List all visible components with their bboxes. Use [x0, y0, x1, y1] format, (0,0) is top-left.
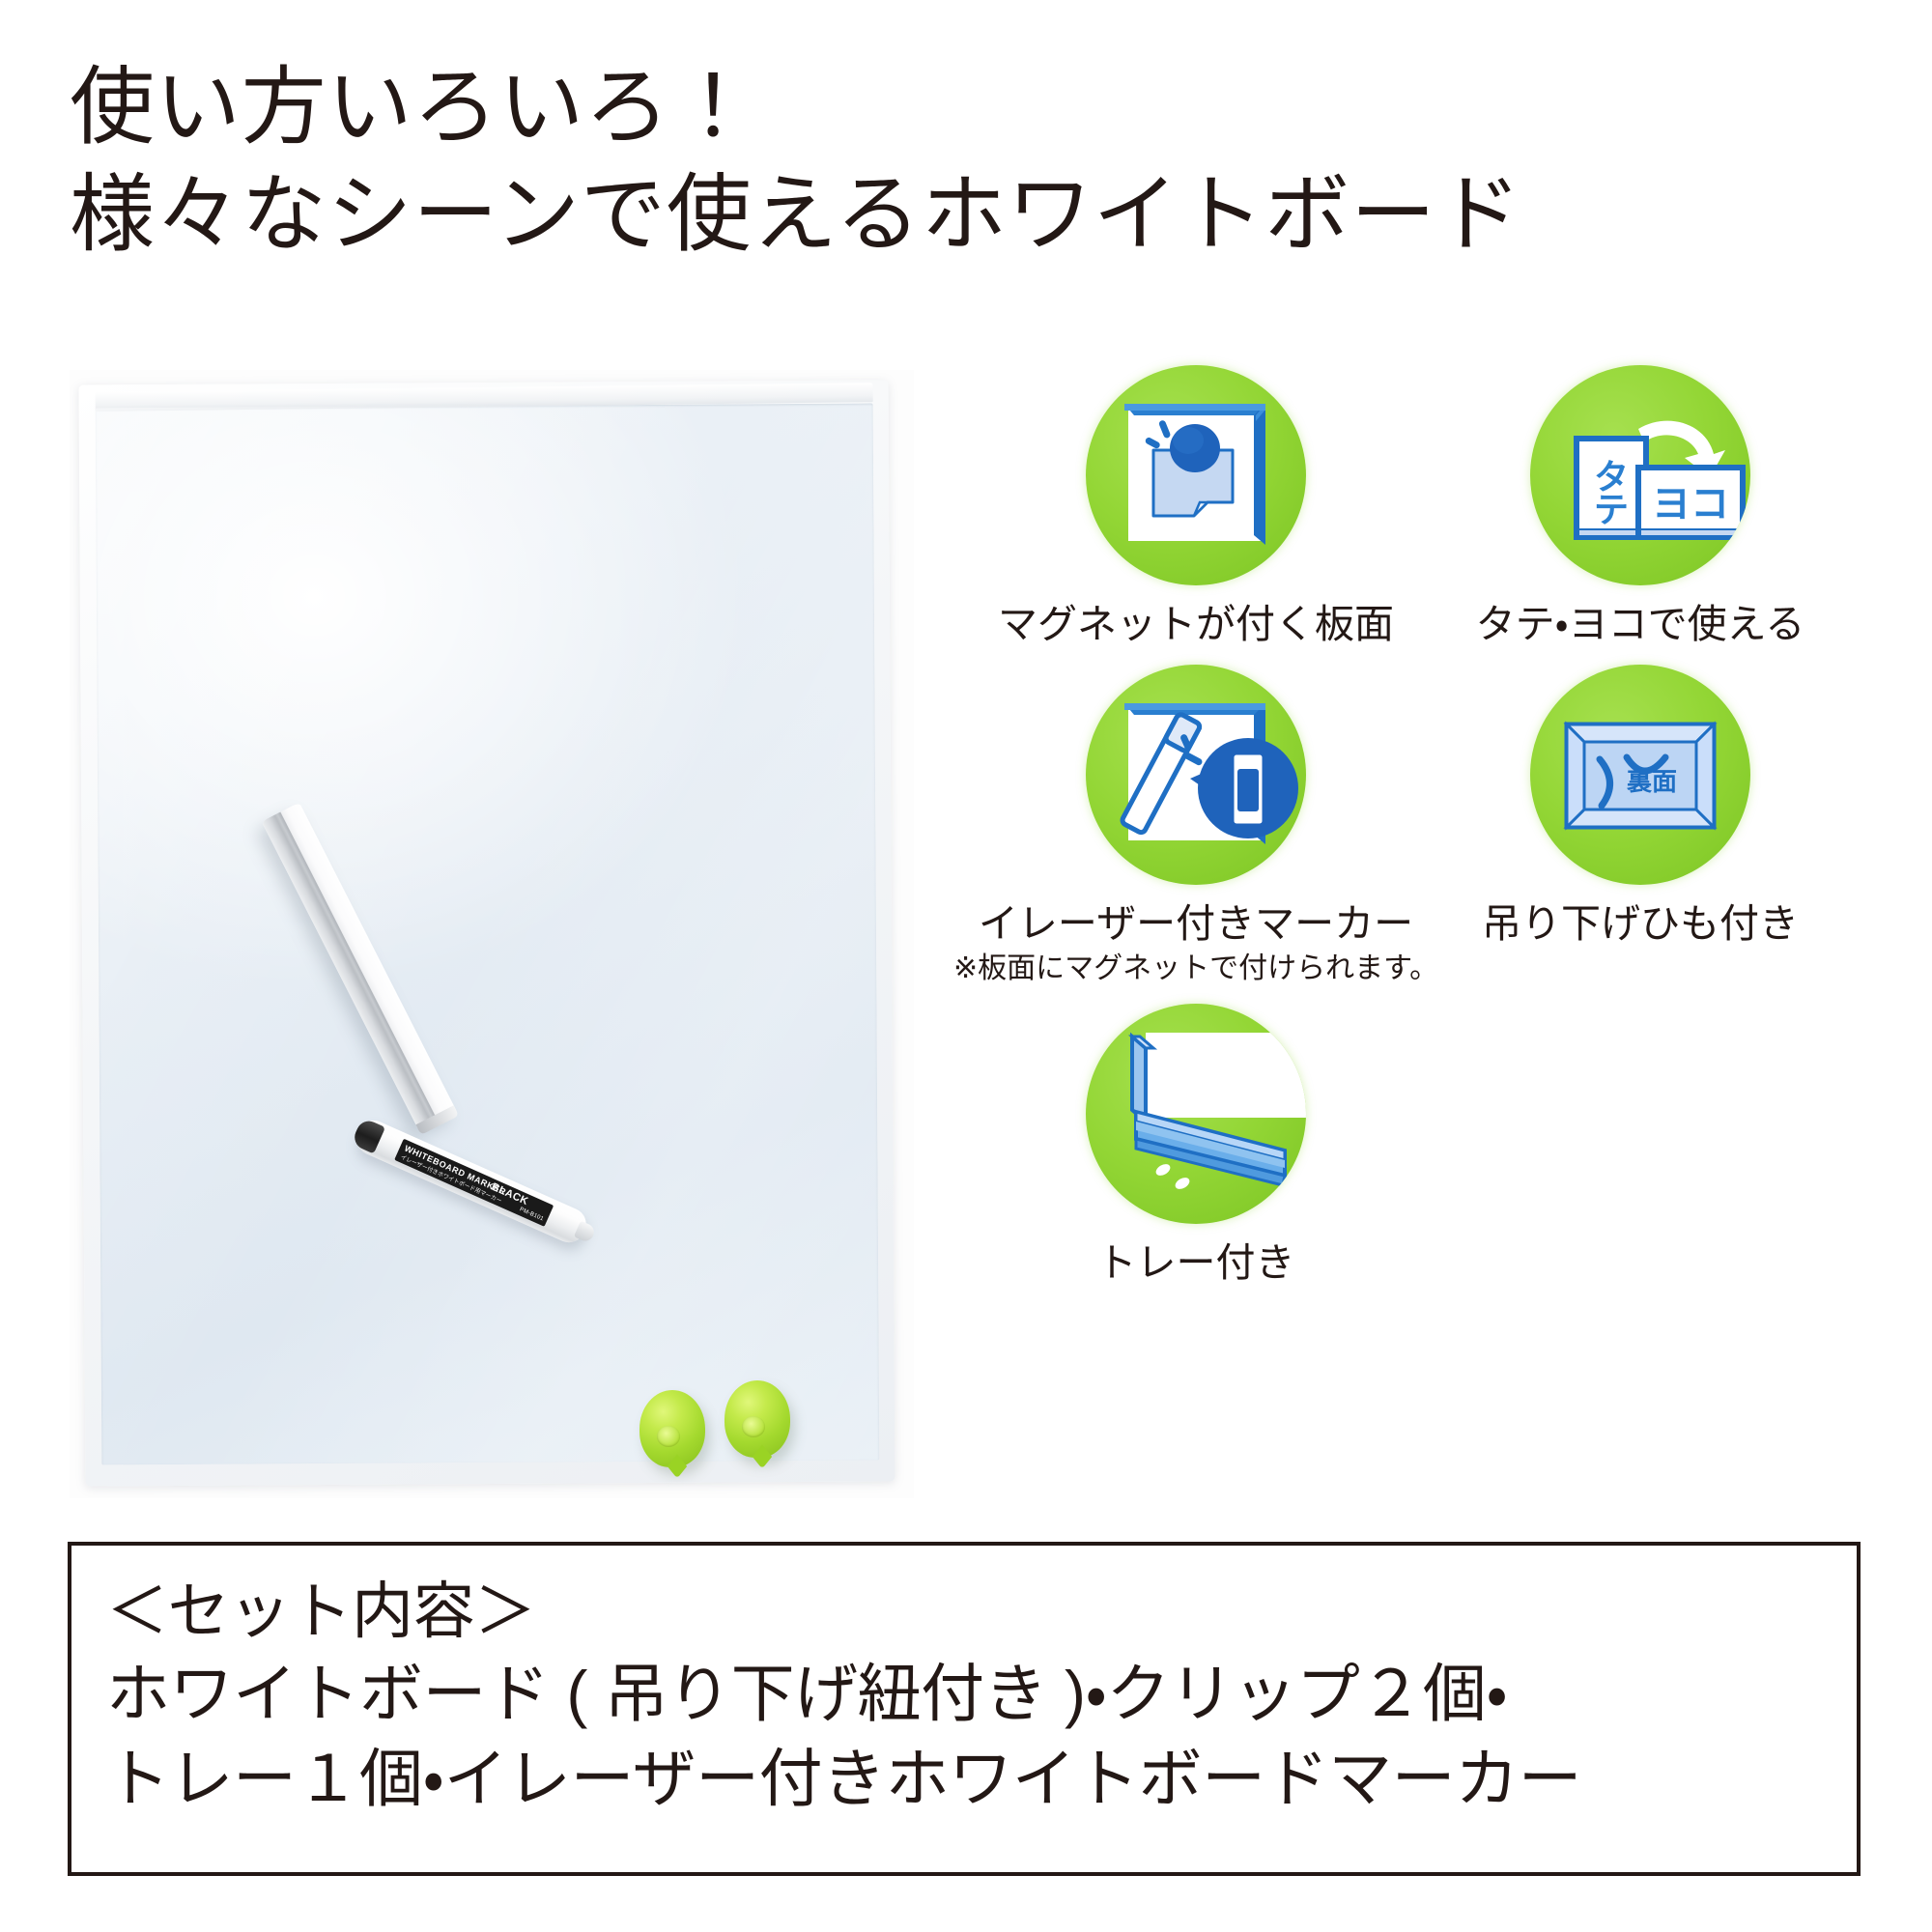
feature-row: イレーザー付きマーカー ※板面にマグネットで付けられます。 裏面 — [974, 665, 1901, 985]
eraser-marker-icon — [1086, 665, 1306, 885]
product-photo: WHITEBOARD MARKER BLACK PM-B101 イレーザー付きホ… — [70, 370, 914, 1498]
feature-label: トレー付き — [1097, 1239, 1295, 1286]
page-title: 使い方いろいろ！ 様々なシーンで使えるホワイトボード — [70, 54, 1866, 269]
set-contents-line-1: ホワイトボード ( 吊り下げ紐付き )・クリップ２個・ — [106, 1652, 1824, 1736]
whiteboard-frame — [79, 380, 895, 1486]
feature-row: トレー付き — [974, 1004, 1901, 1286]
feature-note: ※板面にマグネットで付けられます。 — [953, 952, 1438, 986]
feature-item-empty — [1418, 1004, 1862, 1286]
feature-item-magnet-board: マグネットが付く板面 — [974, 365, 1418, 647]
set-contents-title: ＜セット内容＞ — [106, 1571, 1824, 1652]
hanging-string-icon: 裏面 — [1530, 665, 1750, 885]
orientation-rotate-icon: タ テ ヨコ — [1530, 365, 1750, 585]
feature-item-orientation: タ テ ヨコ タテ・ヨコで使える — [1418, 365, 1862, 647]
svg-text:裏面: 裏面 — [1626, 767, 1677, 796]
magnet-clip — [639, 1390, 705, 1467]
magnet-clip — [724, 1380, 790, 1458]
svg-text:ヨコ: ヨコ — [1652, 483, 1729, 526]
feature-label: マグネットが付く板面 — [998, 601, 1394, 647]
tray-icon — [1086, 1004, 1306, 1224]
feature-item-tray: トレー付き — [974, 1004, 1418, 1286]
feature-row: マグネットが付く板面 タ テ ヨコ — [974, 365, 1901, 647]
headline-line-1: 使い方いろいろ！ — [70, 54, 1866, 161]
feature-label: イレーザー付きマーカー — [979, 900, 1413, 947]
headline-line-2: 様々なシーンで使えるホワイトボード — [70, 161, 1866, 269]
feature-item-eraser-marker: イレーザー付きマーカー ※板面にマグネットで付けられます。 — [974, 665, 1418, 985]
magnet-board-icon — [1086, 365, 1306, 585]
feature-label: タテ・ヨコで使える — [1476, 601, 1805, 647]
feature-item-hanging-string: 裏面 吊り下げひも付き — [1418, 665, 1862, 985]
feature-label: 吊り下げひも付き — [1482, 900, 1799, 947]
svg-text:テ: テ — [1594, 490, 1629, 529]
set-contents-line-2: トレー１個・イレーザー付きホワイトボードマーカー — [106, 1737, 1824, 1821]
whiteboard-top-frame-bar — [96, 383, 873, 412]
feature-list: マグネットが付く板面 タ テ ヨコ — [974, 365, 1901, 1286]
set-contents-box: ＜セット内容＞ ホワイトボード ( 吊り下げ紐付き )・クリップ２個・ トレー１… — [68, 1542, 1861, 1876]
